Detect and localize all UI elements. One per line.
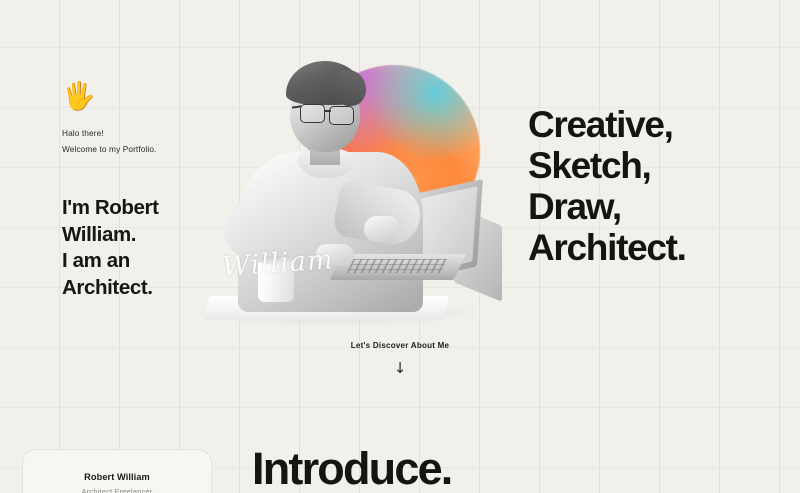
portfolio-page: 🖐 Halo there! Welcome to my Portfolio. I… — [0, 0, 800, 493]
headline-line-3: Draw, — [528, 186, 778, 227]
profile-card[interactable]: Robert William Architect Freelancer — [22, 449, 212, 493]
discover-label[interactable]: Let's Discover About Me — [0, 341, 800, 350]
eyeglasses-left-lens — [300, 104, 325, 123]
laptop-keyboard — [347, 259, 448, 273]
eyeglasses-bridge — [324, 110, 331, 112]
profile-card-role: Architect Freelancer — [23, 487, 211, 493]
hero-right-column: Creative, Sketch, Draw, Architect. — [528, 104, 778, 268]
headline-line-1: Creative, — [528, 104, 778, 145]
right-hand — [364, 216, 398, 242]
introduce-section-title: Introduce. — [252, 444, 452, 493]
headline-line-2: Sketch, — [528, 145, 778, 186]
discover-cta[interactable]: Let's Discover About Me ↓ — [0, 341, 800, 376]
hero-photo-composition: William — [186, 48, 496, 323]
arrow-down-icon[interactable]: ↓ — [0, 361, 800, 376]
hero-headline-text: Creative, Sketch, Draw, Architect. — [528, 104, 778, 268]
profile-card-name: Robert William — [23, 472, 211, 482]
hair-side — [334, 70, 366, 106]
eyeglasses-right-lens — [329, 106, 354, 125]
headline-line-4: Architect. — [528, 227, 778, 268]
bottom-section: Robert William Architect Freelancer Intr… — [0, 432, 800, 493]
